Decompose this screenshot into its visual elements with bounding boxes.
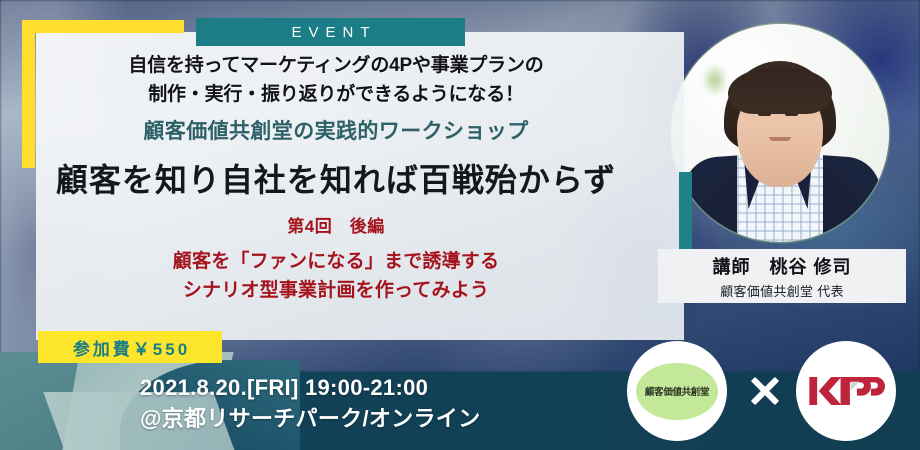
cross-icon <box>748 374 782 408</box>
speaker-info-plate: 講師 桃谷 修司 顧客価値共創堂 代表 <box>658 249 906 303</box>
workshop-subtitle: 顧客価値共創堂の実践的ワークショップ <box>36 119 636 144</box>
portrait-eyebrow-right <box>784 105 800 108</box>
event-date-text: 2021.8.20.[FRI] 19:00-21:00 <box>140 372 560 403</box>
event-label-text: EVENT <box>284 24 376 41</box>
lead-copy: 自信を持ってマーケティングの4Pや事業プランの 制作・実行・振り返りができるよう… <box>36 52 636 109</box>
speaker-role: 顧客価値共創堂 代表 <box>720 281 844 300</box>
partner-logo-kokyaku: 顧客価値共創堂 <box>627 341 727 441</box>
price-badge: 参加費￥550 <box>38 331 222 363</box>
portrait-mouth <box>769 137 791 141</box>
event-venue-text: @京都リサーチパーク/オンライン <box>140 403 560 434</box>
speaker-portrait-photo <box>671 24 889 242</box>
krp-logo-mark <box>807 374 885 408</box>
partner-logo-text: 顧客価値共創堂 <box>645 384 709 398</box>
partner-logo-krp <box>796 341 896 441</box>
session-description-line-2: シナリオ型事業計画を作ってみよう <box>36 277 636 306</box>
portrait-eye-right <box>785 112 798 116</box>
portrait-eye-left <box>758 112 771 116</box>
event-label-band: EVENT <box>196 18 465 46</box>
session-description: 顧客を「ファンになる」まで誘導する シナリオ型事業計画を作ってみよう <box>36 248 636 305</box>
portrait-greenery-bokeh <box>702 63 728 97</box>
portrait-eyebrow-left <box>756 105 772 108</box>
session-label: 第4回 後編 <box>36 218 636 236</box>
main-headline: 顧客を知り自社を知れば百戦殆からず <box>36 160 636 200</box>
partner-logo-blob: 顧客価値共創堂 <box>636 363 718 420</box>
datetime-venue-block: 2021.8.20.[FRI] 19:00-21:00 @京都リサーチパーク/オ… <box>140 372 560 434</box>
lead-line-1: 自信を持ってマーケティングの4Pや事業プランの <box>36 52 636 81</box>
lead-line-2: 制作・実行・振り返りができるようになる！ <box>36 81 636 110</box>
speaker-name: 講師 桃谷 修司 <box>712 253 851 279</box>
portrait-fringe <box>728 68 832 114</box>
session-description-line-1: 顧客を「ファンになる」まで誘導する <box>36 248 636 277</box>
price-badge-text: 参加費￥550 <box>70 335 190 360</box>
event-banner: EVENT 自信を持ってマーケティングの4Pや事業プランの 制作・実行・振り返り… <box>0 0 920 450</box>
